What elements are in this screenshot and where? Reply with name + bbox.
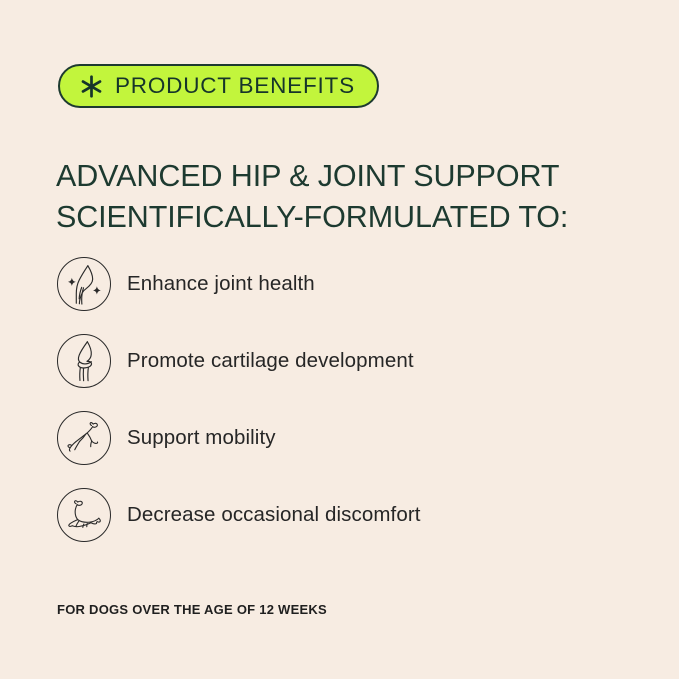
list-item: Enhance joint health — [57, 257, 617, 311]
joint-sparkle-icon — [57, 257, 111, 311]
list-item-label: Support mobility — [127, 426, 276, 451]
page-title-line-1: ADVANCED HIP & JOINT SUPPORT — [56, 156, 636, 197]
list-item-label: Decrease occasional discomfort — [127, 503, 421, 528]
age-disclaimer: FOR DOGS OVER THE AGE OF 12 WEEKS — [57, 602, 327, 617]
list-item-label: Enhance joint health — [127, 272, 315, 297]
resting-dog-icon — [57, 488, 111, 542]
product-benefits-panel: PRODUCT BENEFITS ADVANCED HIP & JOINT SU… — [0, 0, 679, 679]
list-item-label: Promote cartilage development — [127, 349, 414, 374]
list-item: Promote cartilage development — [57, 334, 617, 388]
list-item: Support mobility — [57, 411, 617, 465]
badge-label: PRODUCT BENEFITS — [115, 75, 355, 98]
list-item: Decrease occasional discomfort — [57, 488, 617, 542]
page-title-line-2: SCIENTIFICALLY-FORMULATED TO: — [56, 197, 636, 238]
asterisk-icon — [79, 74, 104, 99]
benefits-list: Enhance joint health Promote cartilage — [57, 257, 617, 565]
product-benefits-badge: PRODUCT BENEFITS — [58, 64, 379, 108]
knee-cartilage-icon — [57, 334, 111, 388]
leaping-dog-icon — [57, 411, 111, 465]
page-title: ADVANCED HIP & JOINT SUPPORT SCIENTIFICA… — [56, 156, 636, 238]
